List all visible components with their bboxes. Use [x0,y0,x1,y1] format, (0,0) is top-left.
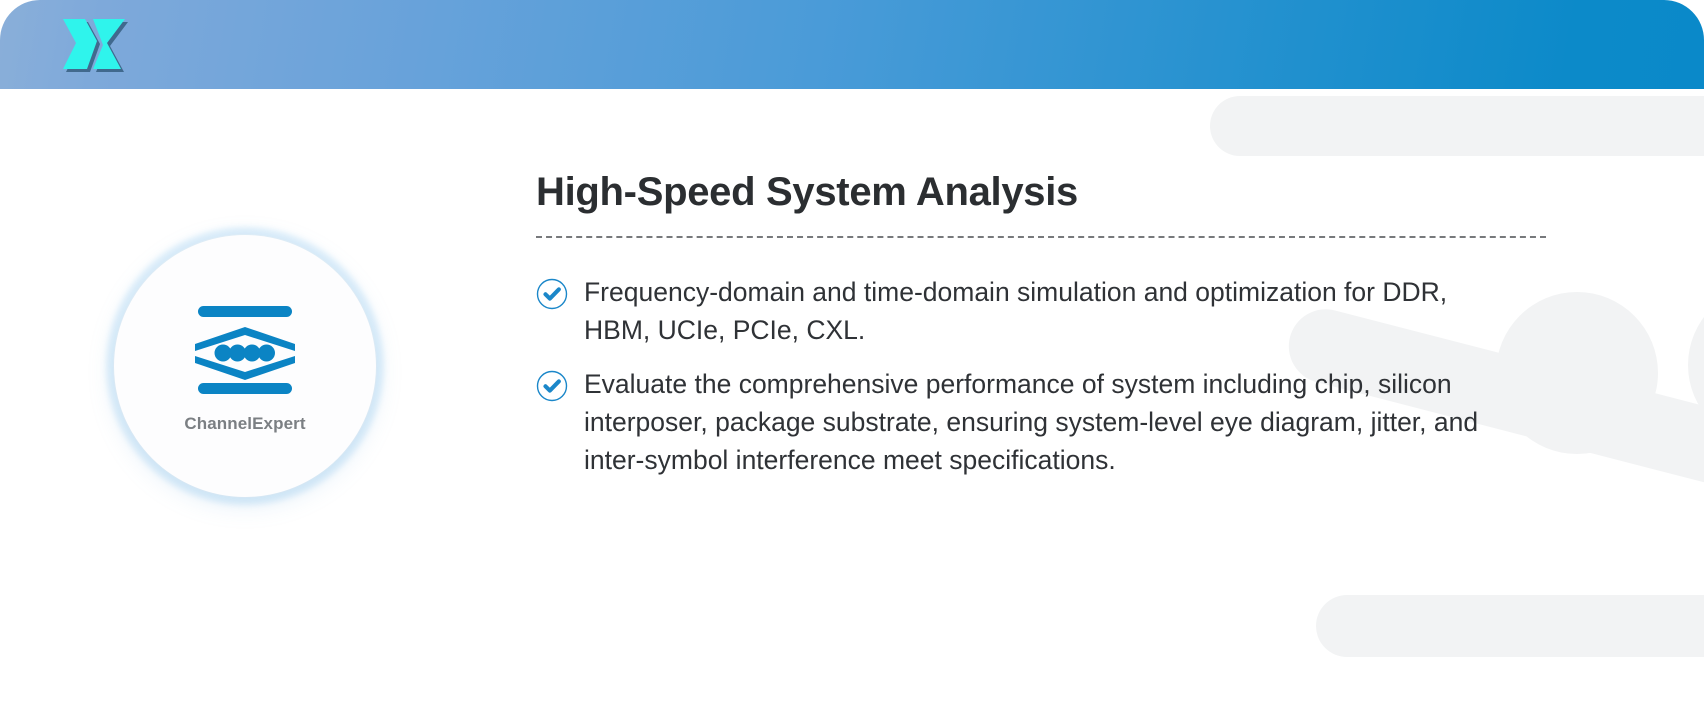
page-title: High-Speed System Analysis [536,170,1496,214]
list-item-text: Frequency-domain and time-domain simulat… [584,274,1496,349]
deco-rounded-rect-top-right [1210,96,1704,156]
list-item: Evaluate the comprehensive performance o… [536,366,1496,479]
check-circle-icon [536,370,568,402]
header-bar [0,0,1704,89]
deco-circle-left [1496,292,1658,454]
check-circle-icon [536,278,568,310]
main-content: High-Speed System Analysis Frequency-dom… [536,170,1496,496]
channel-eye-diagram-icon [189,302,301,398]
product-badge[interactable]: ChannelExpert [106,227,384,505]
slide-root: ChannelExpert High-Speed System Analysis… [0,0,1704,708]
feature-list: Frequency-domain and time-domain simulat… [536,274,1496,479]
deco-rounded-rect-bottom-right [1316,595,1704,657]
list-item: Frequency-domain and time-domain simulat… [536,274,1496,349]
title-divider [536,236,1546,238]
badge-circle: ChannelExpert [114,235,376,497]
xpeedic-x-logo-icon[interactable] [56,12,132,78]
deco-circle-right [1688,285,1704,445]
badge-label: ChannelExpert [184,414,305,434]
list-item-text: Evaluate the comprehensive performance o… [584,366,1496,479]
